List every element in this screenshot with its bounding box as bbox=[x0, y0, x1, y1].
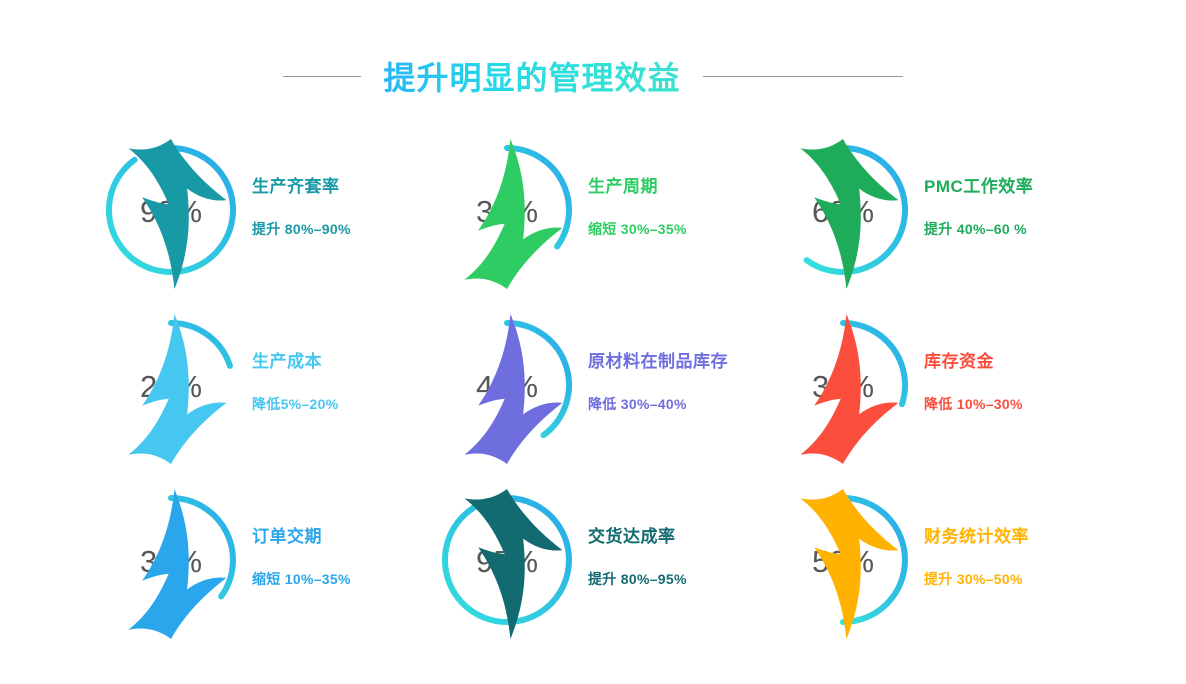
arrow-down-icon bbox=[96, 489, 246, 639]
header-rule-right bbox=[703, 76, 903, 77]
arrow-down-icon bbox=[432, 139, 582, 289]
arrow-up-icon bbox=[768, 139, 918, 289]
progress-dial: 35% bbox=[96, 485, 246, 635]
metric-card: 35% 订单交期 缩短 10%–35% bbox=[96, 472, 432, 647]
metric-subtitle: 降低 30%–40% bbox=[588, 396, 687, 413]
progress-dial: 30% bbox=[768, 310, 918, 460]
metric-card: 40% 原材料在制品库存 降低 30%–40% bbox=[432, 297, 768, 472]
metric-card: 60% PMC工作效率 提升 40%–60 % bbox=[768, 122, 1104, 297]
page-title: 提升明显的管理效益 bbox=[383, 53, 680, 99]
progress-dial: 35% bbox=[432, 135, 582, 285]
metric-labels: 原材料在制品库存 降低 30%–40% bbox=[588, 352, 728, 417]
metrics-grid: 90% 生产齐套率 提升 80%–90% 35% bbox=[96, 122, 1104, 647]
metric-card: 95% 交货达成率 提升 80%–95% bbox=[432, 472, 768, 647]
arrow-up-icon bbox=[768, 489, 918, 639]
metric-title: 生产周期 bbox=[588, 177, 658, 197]
dial-center: 30% bbox=[768, 310, 918, 460]
dial-center: 60% bbox=[768, 135, 918, 285]
metric-subtitle: 提升 80%–90% bbox=[252, 221, 351, 238]
progress-dial: 95% bbox=[432, 485, 582, 635]
metric-labels: 生产周期 缩短 30%–35% bbox=[588, 177, 687, 242]
dial-center: 95% bbox=[432, 485, 582, 635]
progress-dial: 50% bbox=[768, 485, 918, 635]
metric-title: 订单交期 bbox=[252, 527, 322, 547]
page-header: 提升明显的管理效益 bbox=[0, 48, 1186, 104]
metric-card: 30% 库存资金 降低 10%–30% bbox=[768, 297, 1104, 472]
metric-title: 原材料在制品库存 bbox=[588, 352, 728, 372]
progress-dial: 40% bbox=[432, 310, 582, 460]
header-rule-left bbox=[283, 76, 361, 77]
metric-subtitle: 提升 80%–95% bbox=[588, 571, 687, 588]
metric-subtitle: 降低5%–20% bbox=[252, 396, 338, 413]
arrow-down-icon bbox=[96, 314, 246, 464]
metric-labels: 生产齐套率 提升 80%–90% bbox=[252, 177, 351, 242]
metric-labels: PMC工作效率 提升 40%–60 % bbox=[924, 177, 1033, 242]
metric-title: 财务统计效率 bbox=[924, 527, 1029, 547]
metric-labels: 财务统计效率 提升 30%–50% bbox=[924, 527, 1029, 592]
arrow-down-icon bbox=[432, 314, 582, 464]
arrow-up-icon bbox=[432, 489, 582, 639]
metric-subtitle: 提升 40%–60 % bbox=[924, 221, 1027, 238]
metric-subtitle: 缩短 10%–35% bbox=[252, 571, 351, 588]
metric-title: 交货达成率 bbox=[588, 527, 676, 547]
dial-center: 35% bbox=[432, 135, 582, 285]
arrow-up-icon bbox=[96, 139, 246, 289]
metric-labels: 交货达成率 提升 80%–95% bbox=[588, 527, 687, 592]
metric-title: 库存资金 bbox=[924, 352, 994, 372]
metric-title: PMC工作效率 bbox=[924, 177, 1033, 197]
progress-dial: 60% bbox=[768, 135, 918, 285]
dial-center: 35% bbox=[96, 485, 246, 635]
dial-center: 40% bbox=[432, 310, 582, 460]
metric-card: 90% 生产齐套率 提升 80%–90% bbox=[96, 122, 432, 297]
arrow-down-icon bbox=[768, 314, 918, 464]
metric-labels: 库存资金 降低 10%–30% bbox=[924, 352, 1023, 417]
metric-title: 生产成本 bbox=[252, 352, 322, 372]
metric-card: 20% 生产成本 降低5%–20% bbox=[96, 297, 432, 472]
metric-subtitle: 缩短 30%–35% bbox=[588, 221, 687, 238]
metric-card: 35% 生产周期 缩短 30%–35% bbox=[432, 122, 768, 297]
progress-dial: 20% bbox=[96, 310, 246, 460]
progress-dial: 90% bbox=[96, 135, 246, 285]
metric-labels: 订单交期 缩短 10%–35% bbox=[252, 527, 351, 592]
metric-title: 生产齐套率 bbox=[252, 177, 340, 197]
metric-subtitle: 提升 30%–50% bbox=[924, 571, 1023, 588]
metric-subtitle: 降低 10%–30% bbox=[924, 396, 1023, 413]
metric-card: 50% 财务统计效率 提升 30%–50% bbox=[768, 472, 1104, 647]
dial-center: 50% bbox=[768, 485, 918, 635]
metric-labels: 生产成本 降低5%–20% bbox=[252, 352, 338, 417]
dial-center: 90% bbox=[96, 135, 246, 285]
dial-center: 20% bbox=[96, 310, 246, 460]
